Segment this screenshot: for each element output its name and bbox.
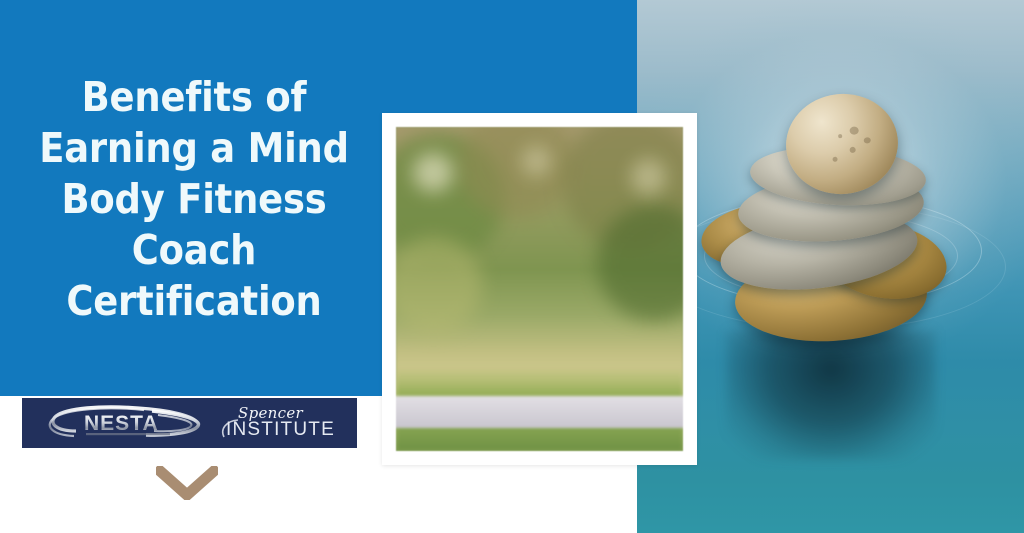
couple-photo-frame — [382, 113, 697, 465]
yoga-mat — [396, 396, 683, 428]
chevron-down-glyph — [156, 466, 218, 500]
nesta-logo-svg: NESTA — [40, 401, 210, 445]
nesta-logo: NESTA — [40, 401, 210, 445]
svg-text:NESTA: NESTA — [84, 412, 159, 435]
banner-canvas: Benefits of Earning a Mind Body Fitness … — [0, 0, 1024, 533]
logo-bar: NESTA Spencer INSTITUTE — [22, 398, 357, 448]
spencer-institute-logo: Spencer INSTITUTE — [216, 401, 346, 445]
chevron-down-icon[interactable] — [156, 466, 218, 500]
couple-photo — [396, 127, 683, 451]
page-title: Benefits of Earning a Mind Body Fitness … — [6, 72, 382, 327]
stone-reflection — [726, 330, 936, 460]
institute-word: INSTITUTE — [226, 419, 335, 441]
